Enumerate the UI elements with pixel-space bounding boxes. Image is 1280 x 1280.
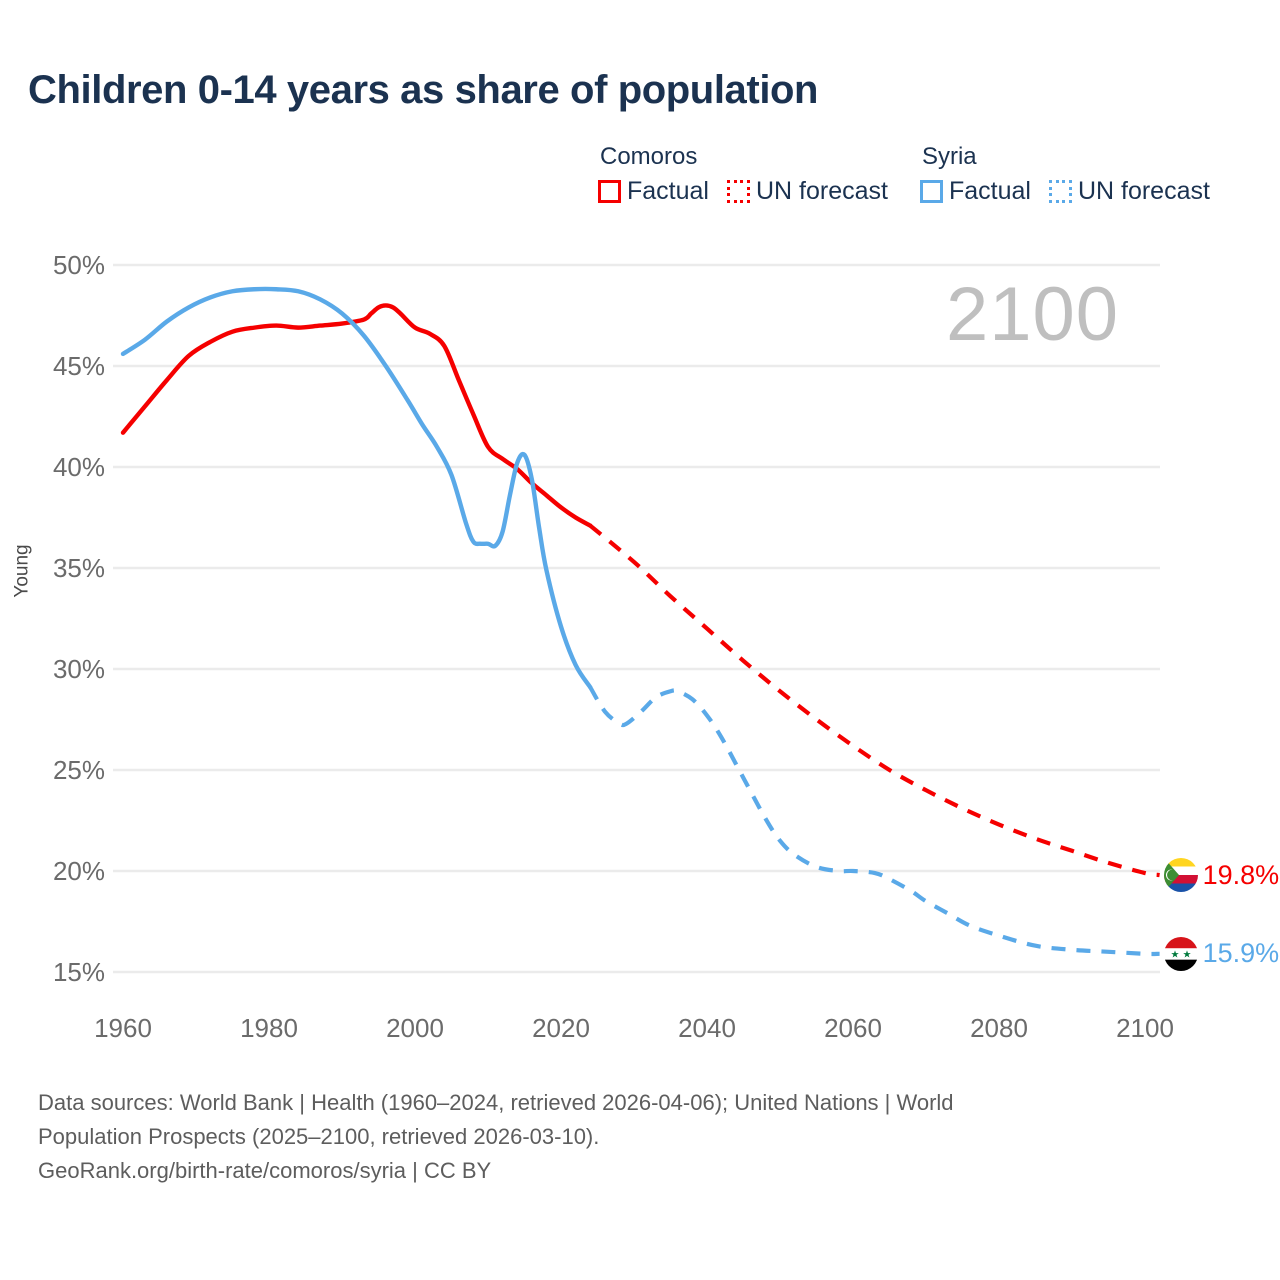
data-series	[123, 289, 1160, 954]
end-value-syria: 15.9%	[1203, 938, 1280, 969]
svg-text:35%: 35%	[53, 553, 105, 583]
end-label-comoros: 19.8%	[1164, 858, 1280, 892]
svg-text:25%: 25%	[53, 755, 105, 785]
svg-text:15%: 15%	[53, 957, 105, 987]
svg-text:2020: 2020	[532, 1013, 590, 1043]
svg-text:20%: 20%	[53, 856, 105, 886]
footer-sources: Data sources: World Bank | Health (1960–…	[38, 1086, 1198, 1188]
line-chart-svg: 15%20%25%30%35%40%45%50%1960198020002020…	[0, 0, 1280, 1060]
series-line-syria-forecast	[590, 687, 1159, 954]
grid-lines	[113, 265, 1160, 972]
series-line-comoros-factual	[123, 305, 590, 525]
series-line-syria-factual	[123, 289, 590, 687]
series-line-comoros-forecast	[590, 526, 1159, 875]
svg-text:50%: 50%	[53, 250, 105, 280]
footer-line-1: Data sources: World Bank | Health (1960–…	[38, 1086, 1198, 1120]
year-watermark: 2100	[946, 276, 1119, 354]
svg-text:2040: 2040	[678, 1013, 736, 1043]
chart-plot-area: 15%20%25%30%35%40%45%50%1960198020002020…	[0, 0, 1280, 1060]
comoros-flag-icon	[1164, 858, 1198, 892]
svg-text:1980: 1980	[240, 1013, 298, 1043]
y-axis-tick-labels: 15%20%25%30%35%40%45%50%	[53, 250, 105, 987]
svg-text:2000: 2000	[386, 1013, 444, 1043]
svg-text:2060: 2060	[824, 1013, 882, 1043]
end-label-syria: 15.9%	[1164, 937, 1280, 971]
footer-line-3: GeoRank.org/birth-rate/comoros/syria | C…	[38, 1154, 1198, 1188]
svg-text:45%: 45%	[53, 351, 105, 381]
svg-text:2100: 2100	[1116, 1013, 1174, 1043]
y-axis-title: Young	[12, 544, 34, 597]
x-axis-tick-labels: 19601980200020202040206020802100	[94, 1013, 1174, 1043]
end-value-comoros: 19.8%	[1203, 860, 1280, 891]
svg-text:40%: 40%	[53, 452, 105, 482]
svg-text:30%: 30%	[53, 654, 105, 684]
footer-line-2: Population Prospects (2025–2100, retriev…	[38, 1120, 1198, 1154]
svg-text:2080: 2080	[970, 1013, 1028, 1043]
syria-flag-icon	[1164, 937, 1198, 971]
svg-text:1960: 1960	[94, 1013, 152, 1043]
